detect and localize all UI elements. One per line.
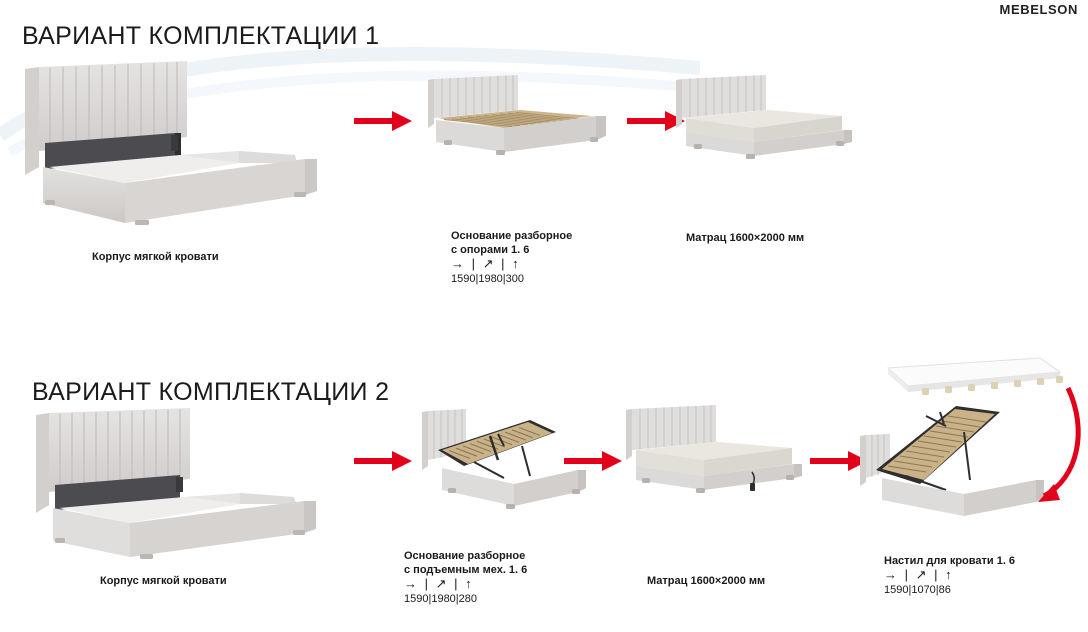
dimension-values-base-lift: 1590|1980|280 bbox=[404, 592, 477, 606]
dimension-values-base-with-legs: 1590|1980|300 bbox=[451, 272, 524, 286]
caption-bed-corpus-2: Корпус мягкой кровати bbox=[100, 574, 227, 588]
product-image-bed-corpus-2 bbox=[18, 405, 348, 570]
section-title-variant-1: ВАРИАНТ КОМПЛЕКТАЦИИ 1 bbox=[22, 22, 379, 51]
red-arrow-v2-step-2-to-3 bbox=[562, 448, 624, 474]
caption-base-with-legs-line2: с опорами 1. 6 bbox=[451, 243, 529, 257]
product-image-bed-corpus-1 bbox=[5, 55, 335, 240]
dimension-arrows-decking-panel: → | ↗ | ↑ bbox=[884, 567, 954, 582]
section-title-variant-2: ВАРИАНТ КОМПЛЕКТАЦИИ 2 bbox=[32, 378, 389, 407]
caption-base-lift-line1: Основание разборное bbox=[404, 549, 525, 563]
dimension-values-decking-panel: 1590|1070|86 bbox=[884, 583, 951, 597]
dimension-arrows-base-with-legs: → | ↗ | ↑ bbox=[451, 256, 521, 271]
red-arrow-v2-step-1-to-2 bbox=[352, 448, 414, 474]
caption-base-lift-line2: с подъемным мех. 1. 6 bbox=[404, 563, 527, 577]
caption-mattress-1: Матрац 1600×2000 мм bbox=[686, 231, 804, 245]
product-image-base-with-legs bbox=[420, 72, 620, 182]
caption-bed-corpus-1: Корпус мягкой кровати bbox=[92, 250, 219, 264]
product-image-mattress-2 bbox=[618, 398, 818, 513]
product-image-mattress-1 bbox=[668, 70, 868, 180]
caption-decking-panel: Настил для кровати 1. 6 bbox=[884, 554, 1015, 568]
caption-mattress-2: Матрац 1600×2000 мм bbox=[647, 574, 765, 588]
caption-base-with-legs-line1: Основание разборное bbox=[451, 229, 572, 243]
product-image-decking-and-open-bed bbox=[860, 350, 1088, 525]
dimension-arrows-base-lift: → | ↗ | ↑ bbox=[404, 576, 474, 591]
red-arrow-step-1-to-2 bbox=[352, 108, 414, 134]
brand-logo: MEBELSON bbox=[1000, 2, 1078, 17]
